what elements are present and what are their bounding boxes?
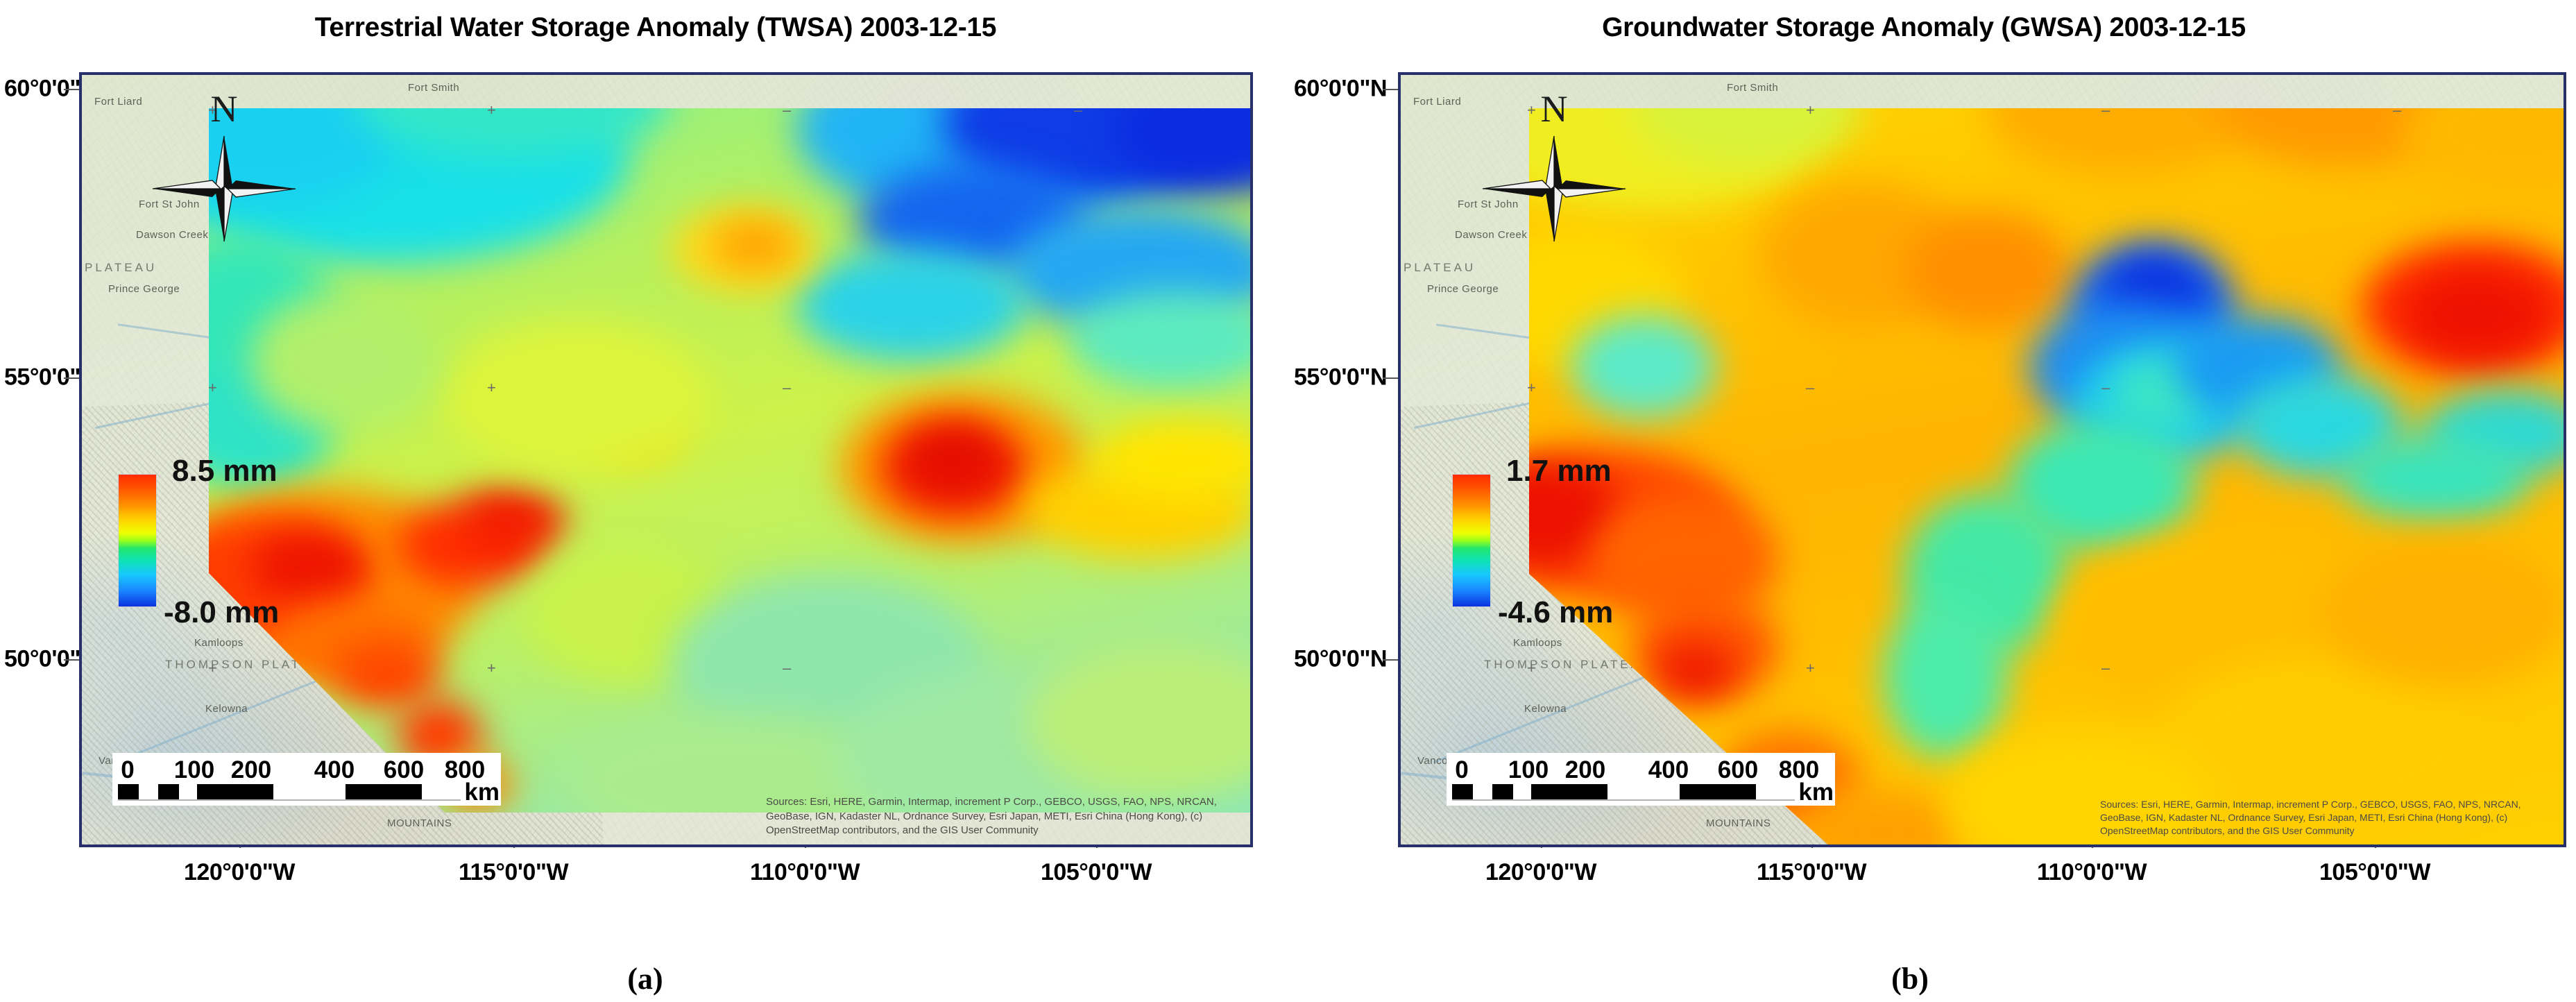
place-label-fort-smith: Fort Smith [408, 82, 459, 94]
graticule-cross: – [1074, 103, 1082, 118]
legend-max-value: 1.7 mm [1506, 456, 1612, 486]
scale-seg [1513, 784, 1531, 799]
legend-labels-a: 8.5 mm -8.0 mm [167, 474, 361, 607]
raster-blob [334, 643, 439, 706]
lon-label-120w: 120°0'0"W [1485, 859, 1596, 886]
place-label-plateau: PLATEAU [85, 261, 157, 275]
raster-blob [2403, 108, 2566, 197]
scale-tick-0: 0 [1455, 756, 1468, 784]
subcaption-b: (b) [1841, 961, 1979, 996]
legend-min-value: -8.0 mm [164, 597, 279, 628]
lon-label-110w: 110°0'0"W [750, 859, 860, 886]
graticule-cross: + [487, 661, 496, 676]
anomaly-raster-twsa [209, 108, 1253, 813]
place-label-fort-liard: Fort Liard [94, 96, 142, 108]
place-label-fort-smith: Fort Smith [1727, 82, 1778, 94]
north-arrow-label: N [1541, 90, 1568, 128]
raster-blob [912, 432, 996, 489]
scale-seg [118, 784, 139, 799]
place-label-mountains: MOUNTAINS [1706, 817, 1771, 829]
scale-tick-100: 100 [1508, 756, 1549, 784]
graticule-cross: – [783, 661, 791, 676]
panel-a: Terrestrial Water Storage Anomaly (TWSA)… [0, 0, 1283, 1002]
north-arrow-b: N [1481, 90, 1627, 250]
raster-blob [1883, 596, 2008, 758]
scale-seg [1531, 784, 1607, 799]
raster-blob [713, 221, 796, 270]
scale-tick-200: 200 [231, 756, 271, 784]
legend-max-value: 8.5 mm [172, 456, 278, 486]
lon-label-105w: 105°0'0"W [2319, 859, 2430, 886]
scale-seg [346, 784, 422, 799]
compass-rose-icon [151, 133, 297, 244]
subcaption-a: (a) [576, 961, 715, 996]
north-arrow-label: N [211, 90, 238, 128]
raster-blob [1571, 315, 1716, 418]
scale-tick-600: 600 [384, 756, 424, 784]
raster-blob [1987, 108, 2258, 175]
lon-label-115w: 115°0'0"W [1757, 859, 1866, 886]
graticule-cross: + [487, 380, 496, 396]
raster-blob [2320, 537, 2566, 685]
scale-tick-100: 100 [174, 756, 214, 784]
legend-a[interactable]: 8.5 mm -8.0 mm [118, 474, 361, 607]
graticule-cross: + [1806, 103, 1815, 118]
figure-container: Terrestrial Water Storage Anomaly (TWSA)… [0, 0, 2576, 1002]
legend-labels-b: 1.7 mm -4.6 mm [1501, 474, 1695, 607]
lat-tick-55n [64, 377, 79, 379]
scale-seg [179, 784, 197, 799]
panel-b-title: Groundwater Storage Anomaly (GWSA) 2003-… [1293, 12, 2576, 43]
scalebar-numbers: 0 100 200 400 600 800 [1452, 756, 1831, 784]
graticule-cross: – [783, 103, 791, 118]
place-label-kamloops: Kamloops [1513, 637, 1562, 649]
place-label-kelowna: Kelowna [205, 703, 248, 715]
place-label-kelowna: Kelowna [1524, 703, 1567, 715]
scalebar-unit: km [1798, 780, 1834, 804]
attribution-b: Sources: Esri, HERE, Garmin, Intermap, i… [2100, 798, 2558, 838]
lat-tick-50n [64, 659, 79, 661]
graticule-cross: + [208, 380, 217, 396]
colorbar-b [1452, 474, 1491, 607]
raster-blob [2341, 434, 2528, 523]
scale-seg [1473, 784, 1492, 799]
raster-blob [1904, 212, 2070, 330]
raster-blob [250, 291, 439, 432]
map-frame-a[interactable]: Fort Liard Fort Smith Fort St John Dawso… [79, 72, 1253, 847]
north-arrow-a: N [151, 90, 297, 250]
graticule-cross: + [208, 661, 217, 676]
raster-blob [1654, 640, 1737, 699]
scale-seg [197, 784, 273, 799]
raster-blob [796, 249, 1027, 362]
scale-seg [1452, 784, 1473, 799]
graticule-cross: + [1806, 661, 1815, 676]
river-line [95, 400, 221, 429]
place-label-mountains: MOUNTAINS [387, 817, 452, 829]
scale-tick-0: 0 [121, 756, 134, 784]
scale-tick-600: 600 [1718, 756, 1758, 784]
graticule-cross: – [2101, 661, 2110, 676]
scalebar-graphic [118, 784, 461, 801]
graticule-cross: – [2393, 103, 2401, 118]
lat-tick-50n [1383, 659, 1398, 661]
scalebar-graphic [1452, 784, 1795, 801]
scale-seg [139, 784, 158, 799]
lon-label-115w: 115°0'0"W [459, 859, 568, 886]
raster-blob [2403, 271, 2549, 359]
river-line [1433, 666, 1671, 764]
place-label-prince-george: Prince George [1427, 283, 1499, 295]
attribution-a: Sources: Esri, HERE, Garmin, Intermap, i… [766, 795, 1245, 838]
panel-a-title: Terrestrial Water Storage Anomaly (TWSA)… [0, 12, 1283, 43]
scale-tick-200: 200 [1565, 756, 1605, 784]
scale-seg [273, 784, 346, 799]
graticule-cross: – [2101, 103, 2110, 118]
river-line [1413, 400, 1539, 429]
lon-label-110w: 110°0'0"W [2037, 859, 2147, 886]
scale-tick-400: 400 [314, 756, 355, 784]
raster-blob [440, 320, 713, 475]
place-label-kamloops: Kamloops [194, 637, 244, 649]
graticule-cross: – [1806, 380, 1814, 396]
legend-min-value: -4.6 mm [1498, 597, 1613, 628]
scalebar-a: 0 100 200 400 600 800 km [112, 753, 501, 806]
place-label-prince-george: Prince George [108, 283, 180, 295]
graticule-cross: – [783, 380, 791, 396]
panel-b: Groundwater Storage Anomaly (GWSA) 2003-… [1293, 0, 2576, 1002]
lat-label-55n: 55°0'0"N [1294, 364, 1387, 391]
map-frame-b[interactable]: Fort Liard Fort Smith Fort St John Dawso… [1398, 72, 2566, 847]
lon-label-120w: 120°0'0"W [184, 859, 295, 886]
raster-blob [461, 489, 565, 552]
compass-rose-icon [1481, 133, 1627, 244]
graticule-cross: + [1527, 380, 1536, 396]
lat-tick-60n [1383, 89, 1398, 90]
lat-tick-55n [1383, 377, 1398, 379]
place-label-fort-liard: Fort Liard [1413, 96, 1461, 108]
legend-b[interactable]: 1.7 mm -4.6 mm [1452, 474, 1695, 607]
lat-tick-60n [64, 89, 79, 90]
scalebar-unit: km [464, 780, 500, 804]
scalebar-b: 0 100 200 400 600 800 km [1447, 753, 1835, 806]
lat-label-50n: 50°0'0"N [1294, 646, 1387, 673]
graticule-cross: – [2101, 380, 2110, 396]
scale-seg [1607, 784, 1680, 799]
scalebar-numbers: 0 100 200 400 600 800 [118, 756, 497, 784]
scale-seg [1680, 784, 1756, 799]
scale-tick-400: 400 [1648, 756, 1689, 784]
place-label-plateau: PLATEAU [1404, 261, 1476, 275]
graticule-cross: + [487, 103, 496, 118]
graticule-cross: + [1527, 661, 1536, 676]
scale-seg [1492, 784, 1513, 799]
scale-seg [158, 784, 179, 799]
lat-label-60n: 60°0'0"N [1294, 76, 1387, 103]
lon-label-105w: 105°0'0"W [1041, 859, 1152, 886]
colorbar-a [118, 474, 157, 607]
